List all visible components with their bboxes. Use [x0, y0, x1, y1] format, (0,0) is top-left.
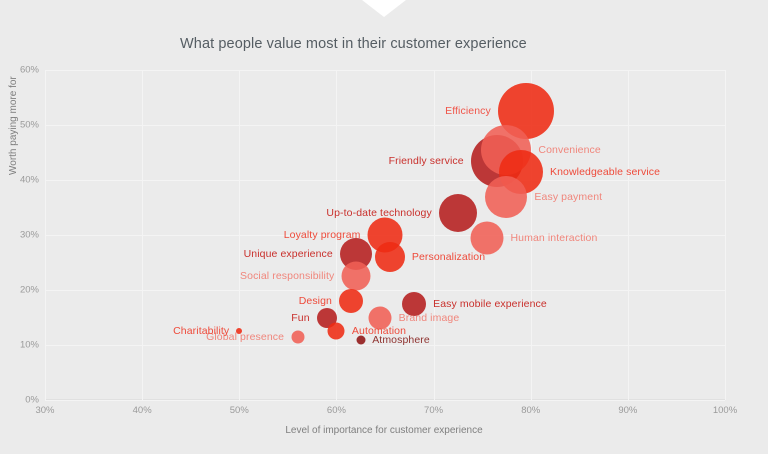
- y-axis-tick: 10%: [20, 340, 39, 351]
- gridline-horizontal: [45, 180, 725, 181]
- y-axis-tick: 30%: [20, 230, 39, 241]
- bubble-label: Brand image: [399, 312, 460, 324]
- bubble-point[interactable]: [439, 194, 477, 232]
- bubble-label: Design: [299, 295, 332, 307]
- y-axis-tick: 60%: [20, 65, 39, 76]
- bubble-label: Convenience: [538, 144, 600, 156]
- gridline-vertical: [725, 70, 726, 400]
- y-axis-tick: 0%: [25, 395, 39, 406]
- bubble-label: Personalization: [412, 251, 485, 263]
- x-axis-tick: 90%: [618, 405, 637, 416]
- x-axis-tick: 40%: [133, 405, 152, 416]
- gridline-horizontal: [45, 70, 725, 71]
- x-axis-tick: 100%: [713, 405, 737, 416]
- gridline-horizontal: [45, 400, 725, 401]
- bubble-label: Friendly service: [389, 155, 464, 167]
- bubble-point[interactable]: [291, 330, 304, 343]
- x-axis-label: Level of importance for customer experie…: [0, 425, 768, 436]
- bubble-chart: What people value most in their customer…: [0, 0, 768, 454]
- bubble-point[interactable]: [339, 289, 363, 313]
- bubble-label: Fun: [291, 312, 309, 324]
- y-axis-tick: 40%: [20, 175, 39, 186]
- x-axis-tick: 50%: [230, 405, 249, 416]
- page-title: What people value most in their customer…: [180, 36, 527, 52]
- y-axis-label: Worth paying more for: [8, 76, 19, 175]
- y-axis-tick: 20%: [20, 285, 39, 296]
- bubble-label: Easy mobile experience: [433, 298, 547, 310]
- gridline-horizontal: [45, 125, 725, 126]
- x-axis-tick: 80%: [521, 405, 540, 416]
- x-axis-tick: 70%: [424, 405, 443, 416]
- bubble-point[interactable]: [485, 176, 527, 218]
- y-axis-tick: 50%: [20, 120, 39, 131]
- bubble-label: Knowledgeable service: [550, 166, 660, 178]
- bubble-label: Human interaction: [511, 232, 598, 244]
- bubble-label: Unique experience: [244, 248, 333, 260]
- bubble-label: Loyalty program: [284, 229, 361, 241]
- bubble-point[interactable]: [341, 262, 370, 291]
- bubble-label: Up-to-date technology: [326, 207, 431, 219]
- x-axis-tick: 30%: [35, 405, 54, 416]
- x-axis-tick: 60%: [327, 405, 346, 416]
- bubble-point[interactable]: [471, 221, 504, 254]
- gridline-horizontal: [45, 290, 725, 291]
- tooltip-pointer-notch-icon: [362, 0, 406, 17]
- bubble-label: Atmosphere: [372, 334, 430, 346]
- bubble-point[interactable]: [375, 242, 405, 272]
- bubble-label: Charitability: [173, 325, 229, 337]
- bubble-label: Social responsibility: [240, 270, 334, 282]
- bubble-point[interactable]: [328, 323, 345, 340]
- bubble-label: Efficiency: [445, 105, 491, 117]
- plot-area: 30%40%50%60%70%80%90%100%0%10%20%30%40%5…: [45, 70, 725, 400]
- bubble-label: Easy payment: [534, 191, 602, 203]
